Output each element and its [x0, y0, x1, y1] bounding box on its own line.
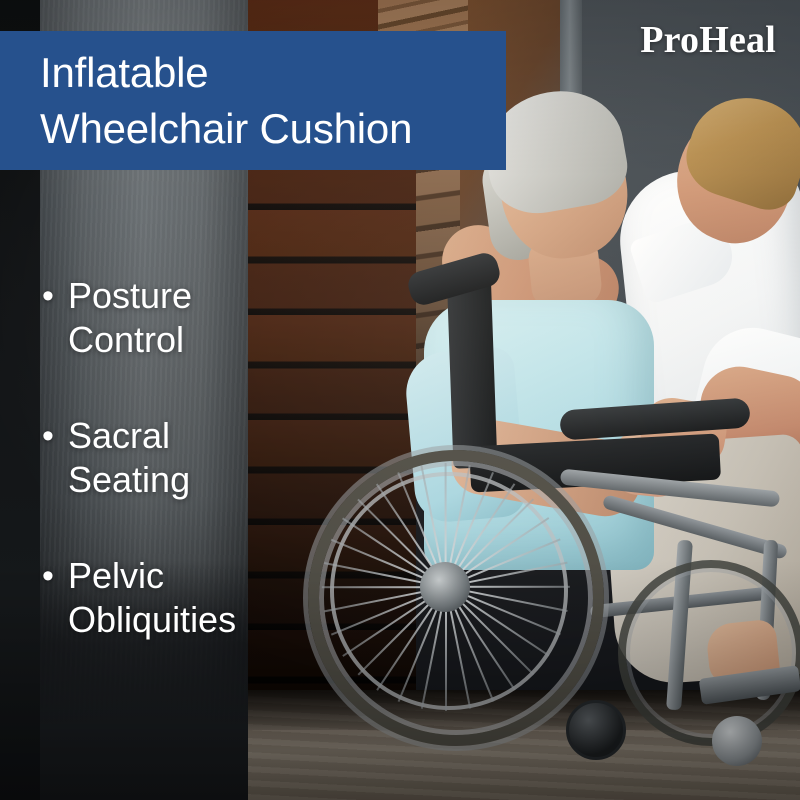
feature-item-pelvic-obliquities: • Pelvic Obliquities: [42, 554, 282, 642]
feature-label-line-1: Posture: [68, 275, 192, 316]
bullet-dot-icon: •: [42, 554, 68, 598]
feature-label-line-2: Obliquities: [68, 599, 236, 640]
feature-list: • Posture Control • Sacral Seating • Pel…: [42, 274, 282, 694]
wheelchair-backrest: [447, 267, 498, 468]
feature-label-line-1: Pelvic: [68, 555, 164, 596]
product-banner-image: ProHeal Inflatable Wheelchair Cushion • …: [0, 0, 800, 800]
wheelchair-caster-rear: [712, 716, 762, 766]
feature-item-sacral-seating: • Sacral Seating: [42, 414, 282, 502]
brand-logo: ProHeal: [640, 18, 776, 62]
bullet-dot-icon: •: [42, 274, 68, 318]
feature-label-sacral-seating: Sacral Seating: [68, 414, 190, 502]
feature-label-posture-control: Posture Control: [68, 274, 192, 362]
wheelchair-hub: [420, 562, 470, 612]
feature-label-line-2: Control: [68, 319, 184, 360]
feature-label-line-2: Seating: [68, 459, 190, 500]
feature-label-line-1: Sacral: [68, 415, 170, 456]
feature-item-posture-control: • Posture Control: [42, 274, 282, 362]
feature-label-pelvic-obliquities: Pelvic Obliquities: [68, 554, 236, 642]
headline-line-1: Inflatable: [40, 45, 506, 101]
bullet-dot-icon: •: [42, 414, 68, 458]
headline-banner: Inflatable Wheelchair Cushion: [0, 31, 506, 170]
headline-line-2: Wheelchair Cushion: [40, 101, 506, 157]
